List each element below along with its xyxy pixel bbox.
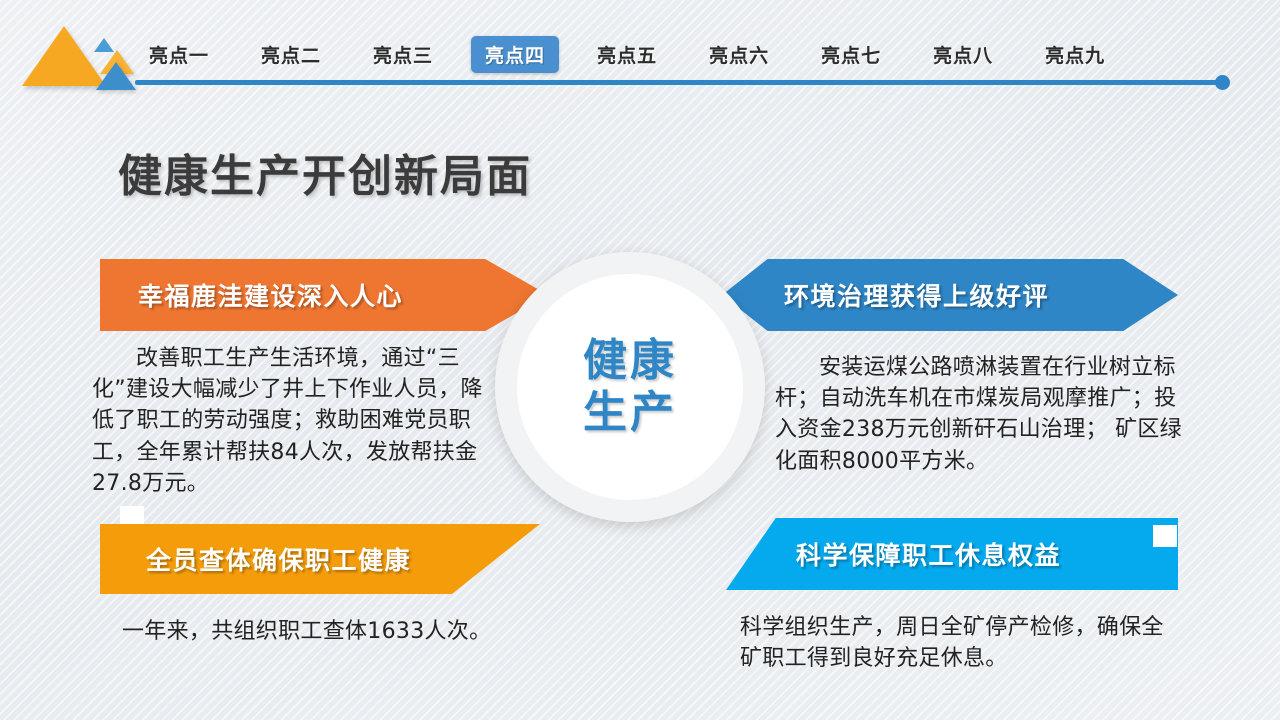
nav-item-3[interactable]: 亮点三 [359, 36, 447, 73]
nav-underline [135, 80, 1225, 85]
nav-item-1[interactable]: 亮点一 [135, 36, 223, 73]
nav-item-7[interactable]: 亮点七 [807, 36, 895, 73]
triangle-large-orange-icon [22, 26, 106, 86]
banner-bottom-right: 科学保障职工休息权益 [726, 518, 1178, 590]
banner-top-right: 环境治理获得上级好评 [722, 259, 1178, 331]
body-text-bottom-left: 一年来，共组织职工查体1633人次。 [100, 616, 570, 647]
center-circle: 健康 生产 [495, 252, 765, 522]
nav-end-dot-icon [1215, 75, 1230, 90]
nav-item-6[interactable]: 亮点六 [695, 36, 783, 73]
page-title: 健康生产开创新局面 [118, 140, 532, 204]
center-label-line2: 生产 [583, 387, 677, 439]
nav-item-2[interactable]: 亮点二 [247, 36, 335, 73]
banner-top-left-label: 幸福鹿洼建设深入人心 [138, 277, 403, 313]
accent-square-bottom-right [1153, 525, 1177, 547]
nav-item-list: 亮点一 亮点二 亮点三 亮点四 亮点五 亮点六 亮点七 亮点八 亮点九 [135, 36, 1143, 72]
banner-bottom-right-label: 科学保障职工休息权益 [796, 536, 1061, 572]
slide-canvas: 亮点一 亮点二 亮点三 亮点四 亮点五 亮点六 亮点七 亮点八 亮点九 健康生产… [0, 0, 1280, 720]
nav-item-8[interactable]: 亮点八 [919, 36, 1007, 73]
body-text-bottom-right: 科学组织生产，周日全矿停产检修，确保全矿职工得到良好充足休息。 [740, 612, 1170, 674]
logo [18, 24, 130, 92]
center-circle-inner: 健康 生产 [517, 274, 743, 500]
banner-top-left: 幸福鹿洼建设深入人心 [100, 259, 548, 331]
nav-item-5[interactable]: 亮点五 [583, 36, 671, 73]
banner-bottom-left-label: 全员查体确保职工健康 [146, 541, 411, 577]
body-text-top-left: 改善职工生产生活环境，通过“三化”建设大幅减少了井上下作业人员，降低了职工的劳动… [92, 343, 492, 499]
banner-bottom-left: 全员查体确保职工健康 [100, 524, 540, 594]
nav-item-9[interactable]: 亮点九 [1031, 36, 1119, 73]
center-label-line1: 健康 [583, 335, 677, 387]
body-text-top-right: 安装运煤公路喷淋装置在行业树立标杆；自动洗车机在市煤炭局观摩推广；投入资金238… [775, 352, 1190, 477]
section-nav: 亮点一 亮点二 亮点三 亮点四 亮点五 亮点六 亮点七 亮点八 亮点九 [135, 36, 1235, 86]
triangle-blue-icon [96, 62, 136, 90]
banner-top-right-label: 环境治理获得上级好评 [784, 277, 1049, 313]
nav-item-4-active[interactable]: 亮点四 [471, 36, 559, 73]
